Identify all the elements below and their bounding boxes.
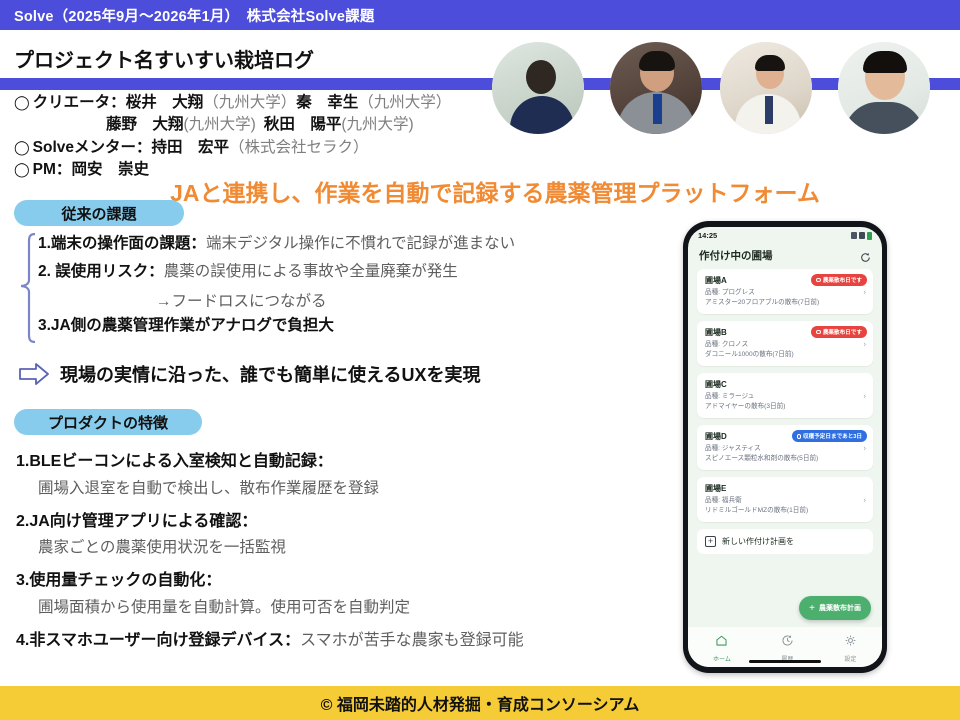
feature-head: 1.BLEビーコンによる入室検知と自動記録： bbox=[16, 453, 333, 470]
creator-label: クリエータ： bbox=[33, 92, 126, 114]
creator-name-1: 桜井 大翔 bbox=[126, 92, 204, 114]
alert-dot-icon bbox=[816, 278, 821, 283]
section-badge-issues: 従来の課題 bbox=[14, 200, 184, 226]
feature-tail: スマホが苦手な農家も登録可能 bbox=[300, 632, 524, 649]
history-icon bbox=[781, 634, 794, 652]
issues-list: 1.端末の操作面の課題：端末デジタル操作に不慣れで記録が進まない 2. 誤使用リ… bbox=[38, 232, 658, 342]
bullet-circle-icon: ◯ bbox=[14, 92, 30, 112]
list-item: 3.JA側の農薬管理作業がアナログで負担大 bbox=[38, 314, 658, 337]
issue-key: 2. 誤使用リスク： bbox=[38, 263, 164, 280]
wifi-icon bbox=[851, 232, 857, 239]
add-plan-row[interactable]: + 新しい作付け計画を bbox=[697, 529, 873, 554]
battery-icon bbox=[867, 232, 872, 240]
mentor-label: Solveメンター： bbox=[33, 137, 152, 159]
badge-label: 収穫予定日まであと3日 bbox=[803, 432, 862, 440]
status-bar: 14:25 bbox=[688, 227, 882, 244]
badge-label: 農薬散布日です bbox=[823, 276, 862, 284]
brace-bracket-icon bbox=[19, 232, 39, 344]
field-variety: 品種: プログレス bbox=[705, 288, 865, 298]
status-badge: 収穫予定日まであと3日 bbox=[792, 430, 868, 442]
clock-dot-icon bbox=[797, 434, 802, 439]
chevron-right-icon: › bbox=[863, 339, 866, 348]
right-arrow-icon bbox=[18, 362, 50, 386]
avatar bbox=[492, 42, 584, 134]
nav-item-history[interactable]: 履歴 bbox=[781, 634, 794, 663]
signal-icon bbox=[859, 232, 865, 239]
phone-mockup: 14:25 作付け中の圃場 bbox=[683, 221, 887, 673]
feature-desc: 圃場入退室を自動で検出し、散布作業履歴を登録 bbox=[16, 479, 656, 500]
mentor-org: （株式会社セラク） bbox=[229, 137, 369, 159]
table-row[interactable]: 圃場C 品種: ミラージュ アドマイヤーの散布(3日前) › bbox=[697, 373, 873, 418]
app-title: 作付け中の圃場 bbox=[699, 248, 773, 263]
creator-org-1: （九州大学） bbox=[203, 92, 296, 114]
creator-name-2: 秦 幸生 bbox=[296, 92, 358, 114]
feature-desc: 圃場面積から使用量を自動計算。使用可否を自動判定 bbox=[16, 598, 656, 619]
nav-label: 設定 bbox=[844, 654, 856, 663]
creator-org-4: (九州大学) bbox=[341, 114, 413, 136]
avatar bbox=[838, 42, 930, 134]
header-bar: Solve（2025年9月〜2026年1月） 株式会社Solve課題 bbox=[0, 0, 960, 30]
field-detail: アミスター20フロアブルの散布(7日前) bbox=[705, 298, 865, 308]
section-badge-features: プロダクトの特徴 bbox=[14, 409, 202, 435]
list-item: 3.使用量チェックの自動化： bbox=[16, 570, 656, 592]
field-variety: 品種: クロノス bbox=[705, 340, 865, 350]
add-plan-label: 新しい作付け計画を bbox=[722, 536, 794, 547]
status-badge: 農薬散布日です bbox=[811, 274, 867, 286]
issue-key: 1.端末の操作面の課題： bbox=[38, 235, 206, 252]
issue-value: 端末デジタル操作に不慣れで記録が進まない bbox=[206, 235, 515, 252]
chevron-right-icon: › bbox=[863, 443, 866, 452]
list-item: 2.JA向け管理アプリによる確認： bbox=[16, 511, 656, 533]
field-detail: リドミルゴールドMZの散布(1日前) bbox=[705, 506, 865, 516]
slide-root: Solve（2025年9月〜2026年1月） 株式会社Solve課題 プロジェク… bbox=[0, 0, 960, 720]
table-row[interactable]: 収穫予定日まであと3日 圃場D 品種: ジャスティス スピノエース顆粒水和剤の散… bbox=[697, 425, 873, 470]
feature-head: 4.非スマホユーザー向け登録デバイス： bbox=[16, 632, 300, 649]
issue-sub-note: →フードロスにつながる bbox=[38, 289, 658, 311]
field-detail: ダコニール1000の散布(7日前) bbox=[705, 350, 865, 360]
nav-item-settings[interactable]: 設定 bbox=[844, 634, 857, 663]
refresh-icon[interactable] bbox=[860, 250, 871, 261]
creator-name-4: 秋田 陽平 bbox=[256, 114, 342, 136]
field-card-list[interactable]: 農薬散布日です 圃場A 品種: プログレス アミスター20フロアブルの散布(7日… bbox=[688, 269, 882, 627]
chevron-right-icon: › bbox=[863, 391, 866, 400]
table-row[interactable]: 圃場E 品種: 福兵衛 リドミルゴールドMZの散布(1日前) › bbox=[697, 477, 873, 522]
feature-desc: 農家ごとの農薬使用状況を一括監視 bbox=[16, 538, 656, 559]
chevron-right-icon: › bbox=[863, 287, 866, 296]
nav-item-home[interactable]: ホーム bbox=[713, 634, 731, 663]
list-item: 1.端末の操作面の課題：端末デジタル操作に不慣れで記録が進まない bbox=[38, 232, 658, 255]
feature-head: 2.JA向け管理アプリによる確認： bbox=[16, 513, 257, 530]
issue-value: 農薬の誤使用による事故や全量廃棄が発生 bbox=[164, 263, 458, 280]
gear-icon bbox=[844, 634, 857, 652]
fab-label: 農薬散布計画 bbox=[819, 603, 861, 613]
field-name: 圃場C bbox=[705, 379, 865, 390]
nav-label: ホーム bbox=[713, 654, 731, 663]
status-time: 14:25 bbox=[698, 231, 717, 240]
chevron-right-icon: › bbox=[863, 495, 866, 504]
app-bar: 作付け中の圃場 bbox=[688, 244, 882, 269]
feature-head: 3.使用量チェックの自動化： bbox=[16, 572, 221, 589]
credits-block: ◯ クリエータ： 桜井 大翔 （九州大学） 秦 幸生 （九州大学） 藤野 大翔 … bbox=[14, 92, 451, 182]
header-title: Solve（2025年9月〜2026年1月） 株式会社Solve課題 bbox=[0, 5, 375, 26]
list-item: 4.非スマホユーザー向け登録デバイス：スマホが苦手な農家も登録可能 bbox=[16, 630, 656, 652]
plus-icon: + bbox=[705, 536, 716, 547]
home-icon bbox=[715, 634, 728, 652]
home-indicator bbox=[749, 660, 821, 663]
creator-org-2: （九州大学） bbox=[358, 92, 451, 114]
field-detail: スピノエース顆粒水和剤の散布(5日前) bbox=[705, 454, 865, 464]
field-detail: アドマイヤーの散布(3日前) bbox=[705, 402, 865, 412]
status-icons bbox=[851, 232, 872, 240]
field-variety: 品種: ジャスティス bbox=[705, 444, 865, 454]
phone-screen: 14:25 作付け中の圃場 bbox=[688, 227, 882, 667]
creator-name-3: 藤野 大翔 bbox=[106, 114, 184, 136]
project-name: プロジェクト名すいすい栽培ログ bbox=[14, 44, 314, 73]
credit-line-creator-2: 藤野 大翔 (九州大学) 秋田 陽平 (九州大学) bbox=[14, 114, 451, 136]
alert-dot-icon bbox=[816, 330, 821, 335]
issue-key: 3.JA側の農薬管理作業がアナログで負担大 bbox=[38, 317, 334, 334]
table-row[interactable]: 農薬散布日です 圃場B 品種: クロノス ダコニール1000の散布(7日前) › bbox=[697, 321, 873, 366]
field-variety: 品種: 福兵衛 bbox=[705, 496, 865, 506]
field-variety: 品種: ミラージュ bbox=[705, 392, 865, 402]
badge-label: 農薬散布日です bbox=[823, 328, 862, 336]
bullet-circle-icon: ◯ bbox=[14, 137, 30, 157]
solution-text: 現場の実情に沿った、誰でも簡単に使えるUXを実現 bbox=[60, 361, 480, 387]
features-list: 1.BLEビーコンによる入室検知と自動記録： 圃場入退室を自動で検出し、散布作業… bbox=[16, 451, 656, 651]
table-row[interactable]: 農薬散布日です 圃場A 品種: プログレス アミスター20フロアブルの散布(7日… bbox=[697, 269, 873, 314]
status-badge: 農薬散布日です bbox=[811, 326, 867, 338]
add-spray-plan-button[interactable]: + 農薬散布計画 bbox=[799, 596, 871, 620]
mentor-name: 持田 宏平 bbox=[152, 137, 230, 159]
member-photos bbox=[492, 42, 960, 134]
list-item: 1.BLEビーコンによる入室検知と自動記録： bbox=[16, 451, 656, 473]
footer-bar: © 福岡未踏的人材発掘・育成コンソーシアム bbox=[0, 686, 960, 720]
credit-line-mentor: ◯ Solveメンター： 持田 宏平 （株式会社セラク） bbox=[14, 137, 451, 159]
avatar bbox=[610, 42, 702, 134]
footer-text: © 福岡未踏的人材発掘・育成コンソーシアム bbox=[321, 691, 640, 715]
plus-icon: + bbox=[809, 603, 815, 614]
list-item: 2. 誤使用リスク：農薬の誤使用による事故や全量廃棄が発生 bbox=[38, 260, 658, 283]
creator-org-3: (九州大学) bbox=[184, 114, 256, 136]
credit-line-creator: ◯ クリエータ： 桜井 大翔 （九州大学） 秦 幸生 （九州大学） bbox=[14, 92, 451, 114]
solution-statement: 現場の実情に沿った、誰でも簡単に使えるUXを実現 bbox=[18, 361, 480, 387]
field-name: 圃場E bbox=[705, 483, 865, 494]
avatar bbox=[720, 42, 812, 134]
